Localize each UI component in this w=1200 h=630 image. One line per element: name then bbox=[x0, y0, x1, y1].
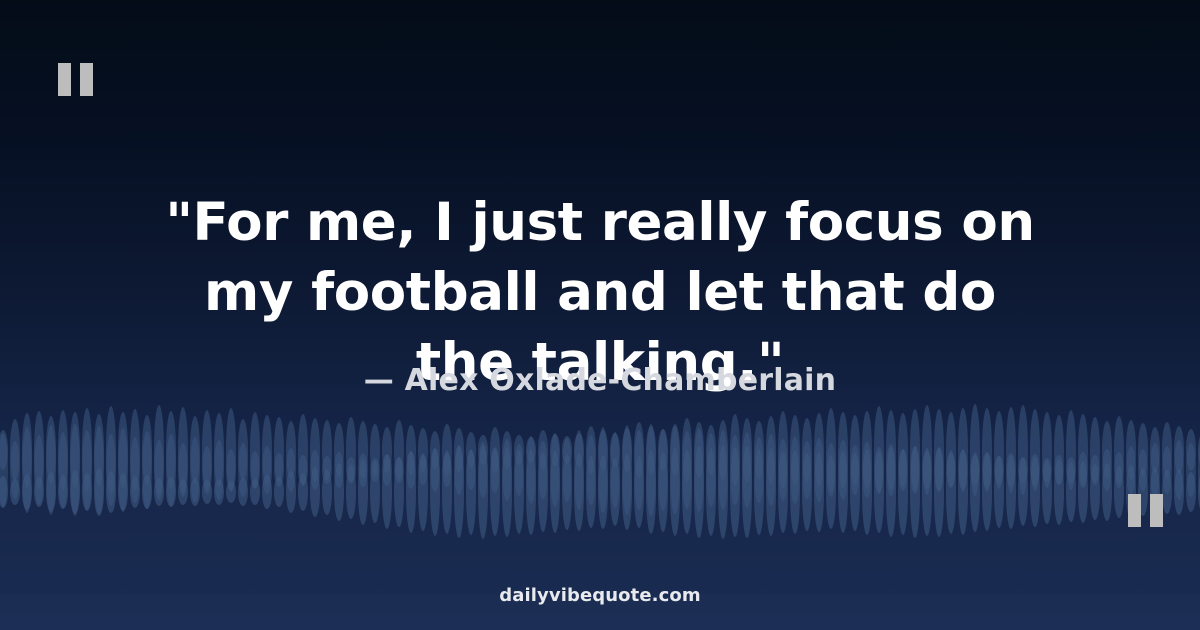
quote-attribution: — Alex Oxlade-Chamberlain bbox=[0, 363, 1200, 398]
card-content: "For me, I just really focus on my footb… bbox=[0, 0, 1200, 630]
quote-card: "For me, I just really focus on my footb… bbox=[0, 0, 1200, 630]
site-watermark: dailyvibequote.com bbox=[0, 585, 1200, 606]
